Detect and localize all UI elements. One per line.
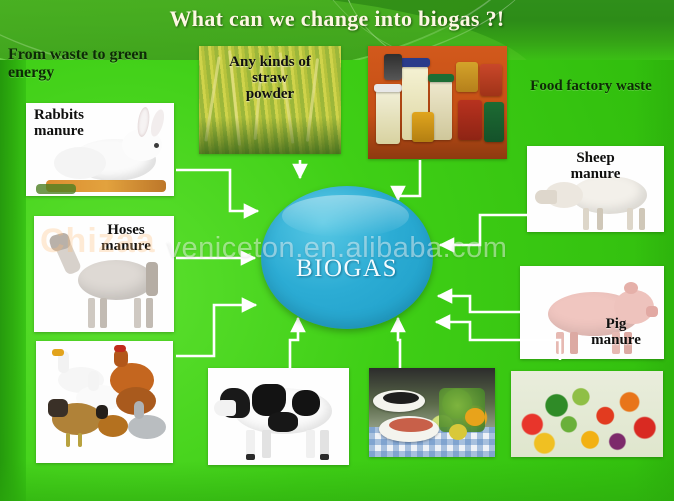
food-waste-photo [369, 368, 495, 457]
food-factory-text: Food factory waste [530, 78, 652, 94]
biogas-infographic: What can we change into biogas ?! From w… [0, 0, 674, 501]
card-pig-manure[interactable]: Pig manure [520, 266, 664, 359]
caption-sheep: Sheep manure [527, 150, 664, 182]
cow-photo [208, 368, 349, 465]
card-food-waste[interactable]: Food waste [369, 368, 495, 457]
card-sheep-manure[interactable]: Sheep manure [527, 146, 664, 232]
caption-straw: Any kinds of straw powder [199, 54, 341, 103]
page-title: What can we change into biogas ?! [0, 6, 674, 32]
card-poultry-manure[interactable]: Poultry manure [36, 341, 173, 463]
tagline-label: From waste to green energy [8, 46, 193, 82]
card-cow-manure[interactable]: cow manure [208, 368, 349, 465]
background-bottom-fade [0, 461, 674, 501]
card-vegetables-waste[interactable]: Vegetables waste [511, 371, 663, 457]
watermark-url: veniceton.en.alibaba.com [0, 232, 674, 265]
tagline-text: From waste to green energy [8, 46, 147, 81]
food-factory-label: Food factory waste [516, 78, 666, 95]
caption-pig: Pig manure [572, 316, 660, 348]
card-rabbits-manure[interactable]: Rabbits manure [26, 103, 174, 196]
vegetables-photo [511, 371, 663, 457]
caption-rabbits: Rabbits manure [34, 107, 126, 139]
poultry-photo [36, 341, 173, 463]
card-food-factory[interactable] [368, 46, 507, 159]
card-straw-powder[interactable]: Any kinds of straw powder [199, 46, 341, 154]
food-factory-photo [368, 46, 507, 159]
